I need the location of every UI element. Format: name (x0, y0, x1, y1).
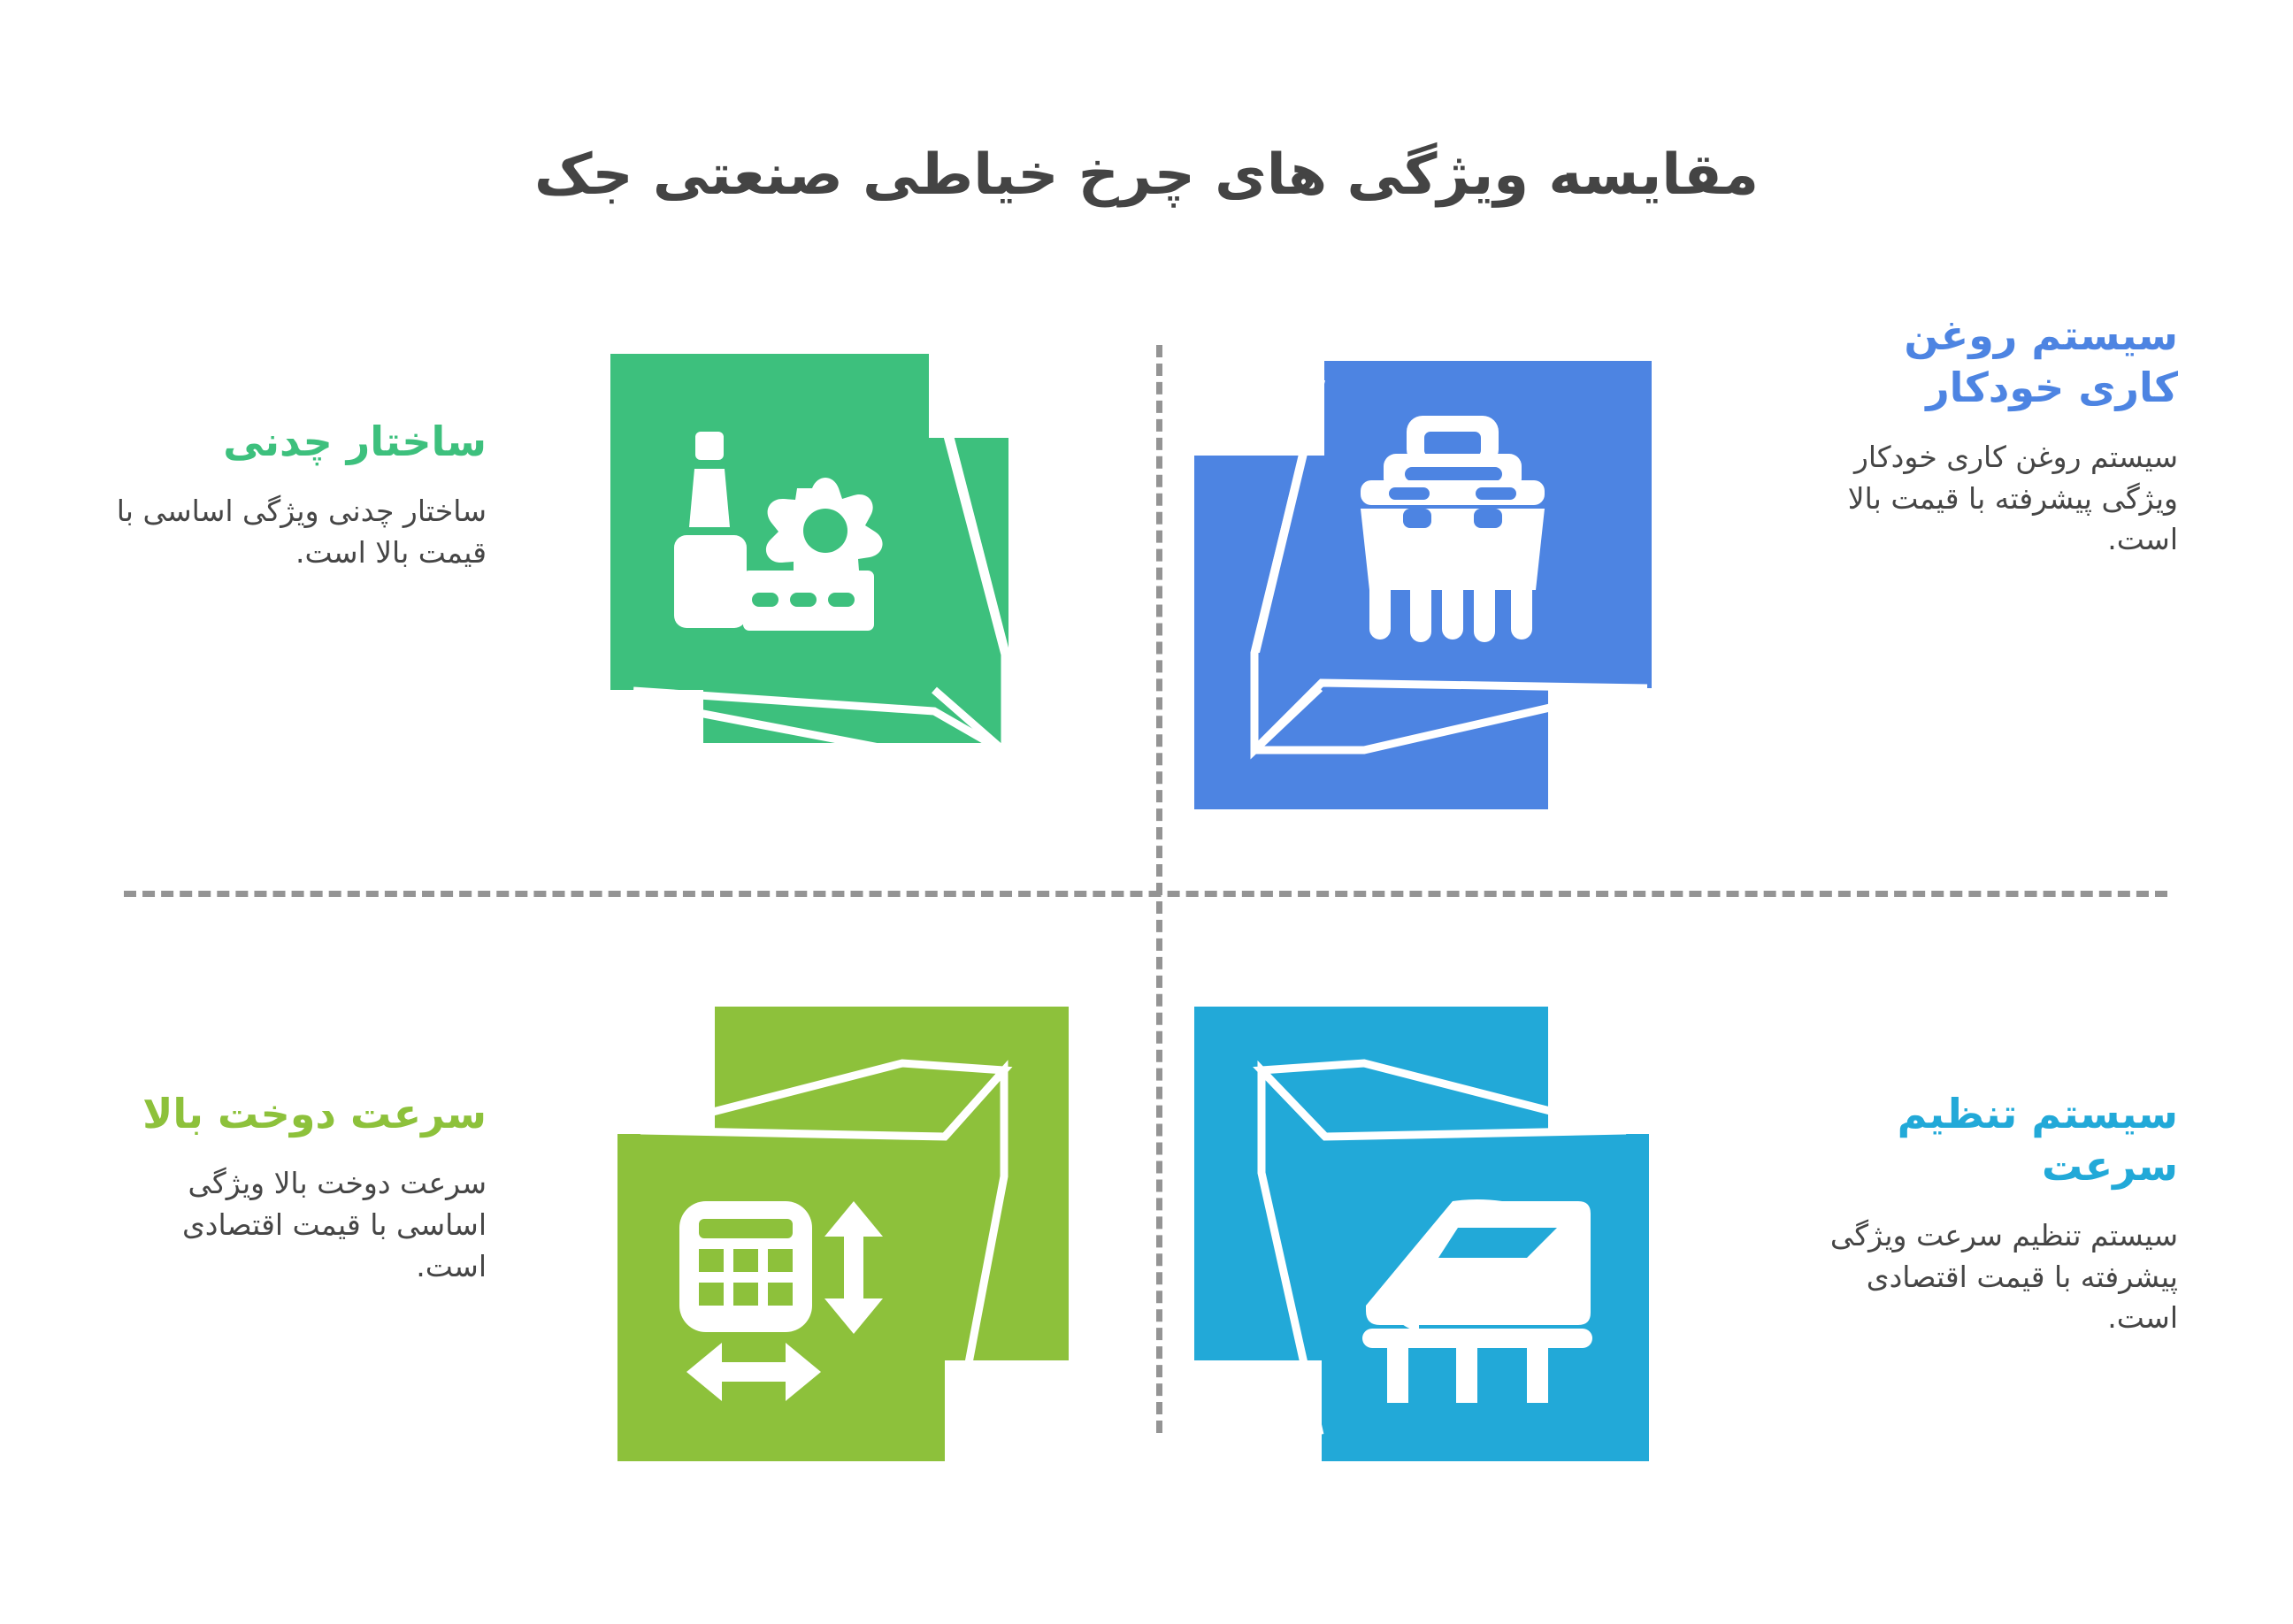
text-block-sew-speed: سرعت دوخت بالا سرعت دوخت بالا ویژگی اساس… (115, 1088, 487, 1287)
feature-body-cast-iron: ساختار چدنی ویژگی اساسی با قیمت بالا است… (115, 491, 487, 574)
graphic-sew-speed (610, 1000, 1106, 1495)
text-block-cast-iron: ساختار چدنی ساختار چدنی ویژگی اساسی با ق… (115, 416, 487, 574)
front-square (610, 354, 929, 690)
feature-heading-speed-control: سیستم تنظیم سرعت (1806, 1088, 2178, 1192)
graphic-cast-iron (610, 354, 1106, 849)
quadrant-speed-control-system: سیستم تنظیم سرعت سیستم تنظیم سرعت ویژگی … (1146, 938, 2293, 1557)
feature-body-auto-oil: سیستم روغن کاری خودکار ویژگی پیشرفته با … (1806, 437, 2178, 562)
quadrant-high-sewing-speed: سرعت دوخت بالا سرعت دوخت بالا ویژگی اساس… (0, 938, 1146, 1557)
feature-heading-cast-iron: ساختار چدنی (115, 416, 487, 468)
feature-heading-auto-oil: سیستم روغن کاری خودکار (1806, 310, 2178, 414)
text-block-auto-oil: سیستم روغن کاری خودکار سیستم روغن کاری خ… (1806, 310, 2178, 561)
feature-heading-sew-speed: سرعت دوخت بالا (115, 1088, 487, 1140)
graphic-auto-oil (1187, 354, 1683, 849)
feature-body-sew-speed: سرعت دوخت بالا ویژگی اساسی با قیمت اقتصا… (115, 1163, 487, 1288)
quadrant-cast-iron-structure: ساختار چدنی ساختار چدنی ویژگی اساسی با ق… (0, 292, 1146, 911)
text-block-speed-control: سیستم تنظیم سرعت سیستم تنظیم سرعت ویژگی … (1806, 1088, 2178, 1339)
page-title: مقایسه ویژگی های چرخ خیاطی صنعتی جک (0, 140, 2293, 211)
infographic-canvas: مقایسه ویژگی های چرخ خیاطی صنعتی جک ساخت… (0, 0, 2293, 1624)
feature-body-speed-control: سیستم تنظیم سرعت ویژگی پیشرفته با قیمت ا… (1806, 1215, 2178, 1340)
graphic-speed-control (1187, 1000, 1683, 1495)
quadrant-auto-oil-system: سیستم روغن کاری خودکار سیستم روغن کاری خ… (1146, 292, 2293, 911)
